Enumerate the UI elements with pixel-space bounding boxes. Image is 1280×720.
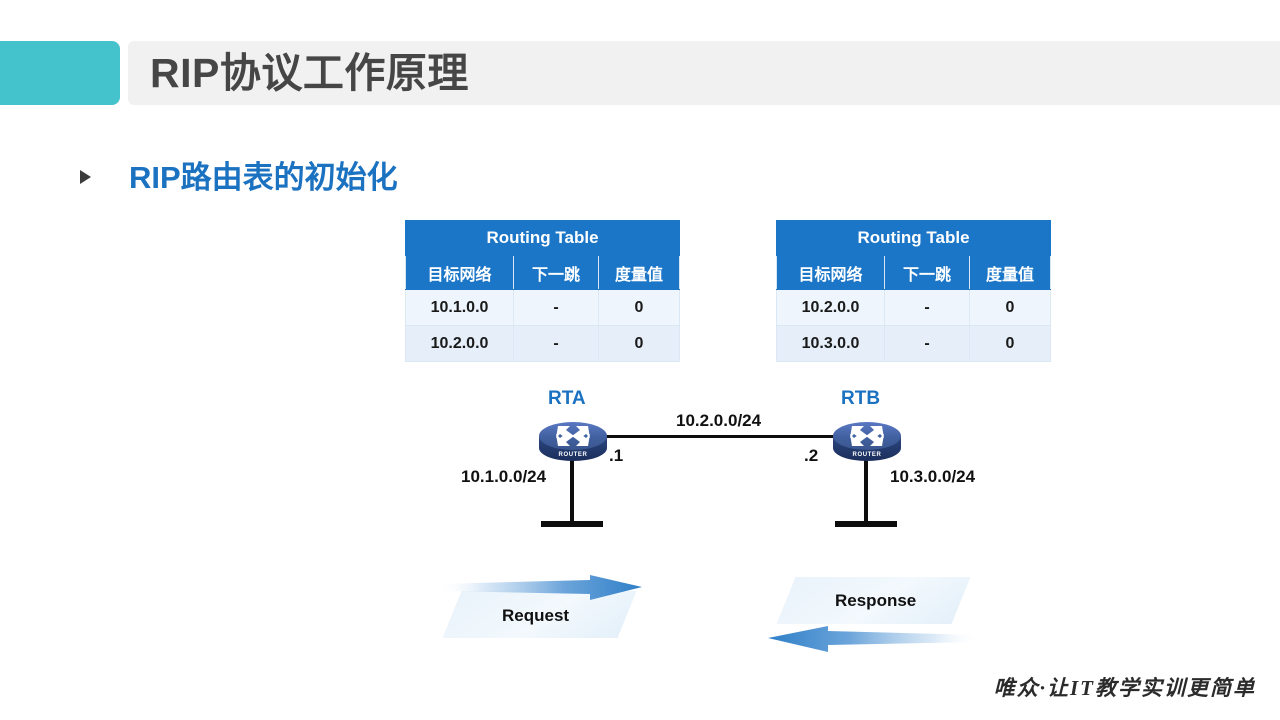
link-network-label: 10.2.0.0/24 [676, 411, 761, 431]
svg-text:ROUTER: ROUTER [853, 452, 882, 458]
link-line-rta-rtb [600, 435, 841, 438]
router-label-rta: RTA [548, 388, 586, 410]
header-accent-block [0, 41, 120, 105]
lan-drop-line-b [864, 455, 868, 525]
page-title: RIP协议工作原理 [150, 41, 469, 105]
arrow-right-icon [438, 575, 642, 601]
router-label-rtb: RTB [841, 388, 880, 410]
router-icon: ROUTER [538, 414, 608, 462]
svg-text:ROUTER: ROUTER [559, 452, 588, 458]
footer-watermark: 唯众·让IT教学实训更简单 [994, 672, 1256, 702]
response-label: Response [835, 591, 916, 611]
lan-segment-bar-b [835, 521, 897, 527]
lan-network-label-a: 10.1.0.0/24 [461, 467, 546, 487]
request-flow-group: Request [432, 575, 652, 647]
interface-label-b: .2 [804, 446, 818, 466]
lan-network-label-b: 10.3.0.0/24 [890, 467, 975, 487]
response-flow-group: Response [762, 575, 992, 653]
lan-segment-bar-a [541, 521, 603, 527]
request-label: Request [502, 606, 569, 626]
interface-label-a: .1 [609, 446, 623, 466]
arrow-left-icon [768, 625, 980, 653]
lan-drop-line-a [570, 455, 574, 525]
router-icon: ROUTER [832, 414, 902, 462]
